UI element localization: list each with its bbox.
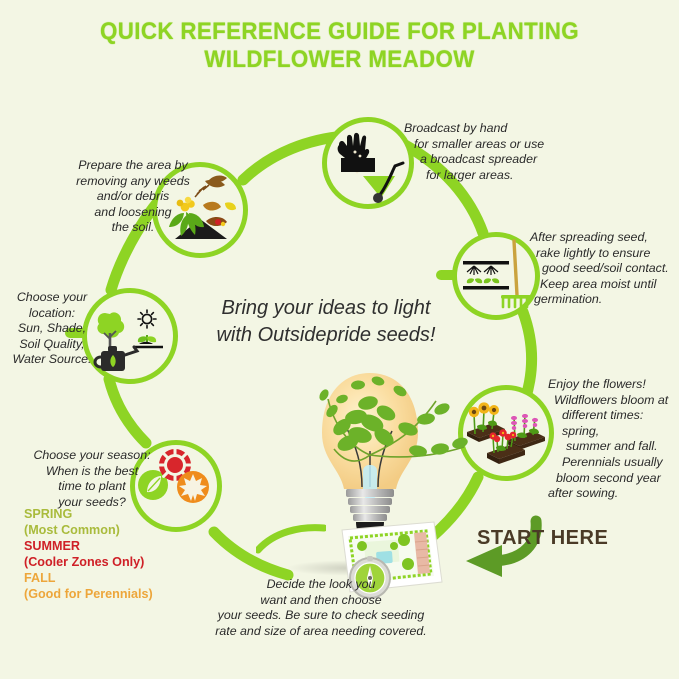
- infographic-canvas: QUICK REFERENCE GUIDE FOR PLANTING WILDF…: [0, 0, 679, 679]
- callout-line: location:: [2, 306, 102, 322]
- callout-line: Decide the look you: [196, 577, 446, 593]
- callout-line: bloom second year: [548, 471, 679, 487]
- hand-sowing-spreader-icon: [327, 122, 409, 204]
- callout-line: Prepare the area by: [48, 158, 218, 174]
- callout-line: and loosening: [48, 205, 218, 221]
- callout-line: and/or debris: [48, 189, 218, 205]
- season-option-fall-note: (Good for Perennials): [24, 586, 192, 602]
- step-node-broadcast[interactable]: [322, 117, 414, 209]
- season-option-spring-label: SPRING: [24, 506, 192, 522]
- slogan-line1: Bring your ideas to light: [176, 295, 476, 322]
- season-option-spring-note: (Most Common): [24, 522, 192, 538]
- callout-line: rake lightly to ensure: [530, 246, 679, 262]
- callout-line: Broadcast by hand: [404, 121, 590, 137]
- callout-line: Water Source.: [2, 352, 102, 368]
- callout-line: Perennials usually: [548, 455, 679, 471]
- callout-decide: Decide the look you want and then choose…: [196, 577, 446, 639]
- callout-broadcast: Broadcast by hand for smaller areas or u…: [404, 121, 590, 183]
- callout-location: Choose your location: Sun, Shade, Soil Q…: [2, 290, 102, 368]
- center-slogan: Bring your ideas to light with Outsidepr…: [176, 295, 476, 349]
- callout-enjoy: Enjoy the flowers! Wildflowers bloom at …: [548, 377, 679, 502]
- callout-line: for smaller areas or use: [404, 137, 590, 153]
- season-badge-fall: [177, 471, 209, 503]
- season-option-summer-label: SUMMER: [24, 538, 192, 554]
- callout-line: germination.: [530, 292, 679, 308]
- callout-line: summer and fall.: [548, 439, 679, 455]
- season-option-summer-note: (Cooler Zones Only): [24, 554, 192, 570]
- callout-line: Choose your season:: [12, 448, 172, 464]
- callout-prepare: Prepare the area by removing any weeds a…: [48, 158, 218, 236]
- callout-line: want and then choose: [196, 593, 446, 609]
- callout-line: your seeds. Be sure to check seeding: [196, 608, 446, 624]
- season-options-list: SPRING (Most Common) SUMMER (Cooler Zone…: [12, 506, 192, 602]
- callout-line: time to plant: [12, 479, 172, 495]
- callout-line: the soil.: [48, 220, 218, 236]
- decorative-swoosh: [256, 516, 326, 556]
- callout-season: Choose your season: When is the best tim…: [12, 448, 172, 510]
- callout-line: for larger areas.: [404, 168, 590, 184]
- callout-line: Soil Quality,: [2, 337, 102, 353]
- callout-line: After spreading seed,: [530, 230, 679, 246]
- callout-line: good seed/soil contact.: [530, 261, 679, 277]
- callout-line: When is the best: [12, 464, 172, 480]
- callout-line: Choose your: [2, 290, 102, 306]
- callout-line: after sowing.: [548, 486, 679, 502]
- start-here-label: START HERE: [477, 527, 608, 550]
- callout-rake: After spreading seed, rake lightly to en…: [530, 230, 679, 308]
- callout-line: Sun, Shade,: [2, 321, 102, 337]
- callout-line: removing any weeds: [48, 174, 218, 190]
- season-option-fall-label: FALL: [24, 570, 192, 586]
- callout-line: a broadcast spreader: [404, 152, 590, 168]
- callout-line: different times: spring,: [548, 408, 679, 439]
- callout-line: rate and size of area needing covered.: [196, 624, 446, 640]
- callout-line: Enjoy the flowers!: [548, 377, 679, 393]
- slogan-line2: with Outsidepride seeds!: [176, 322, 476, 349]
- callout-line: Wildflowers bloom at: [548, 393, 679, 409]
- callout-line: Keep area moist until: [530, 277, 679, 293]
